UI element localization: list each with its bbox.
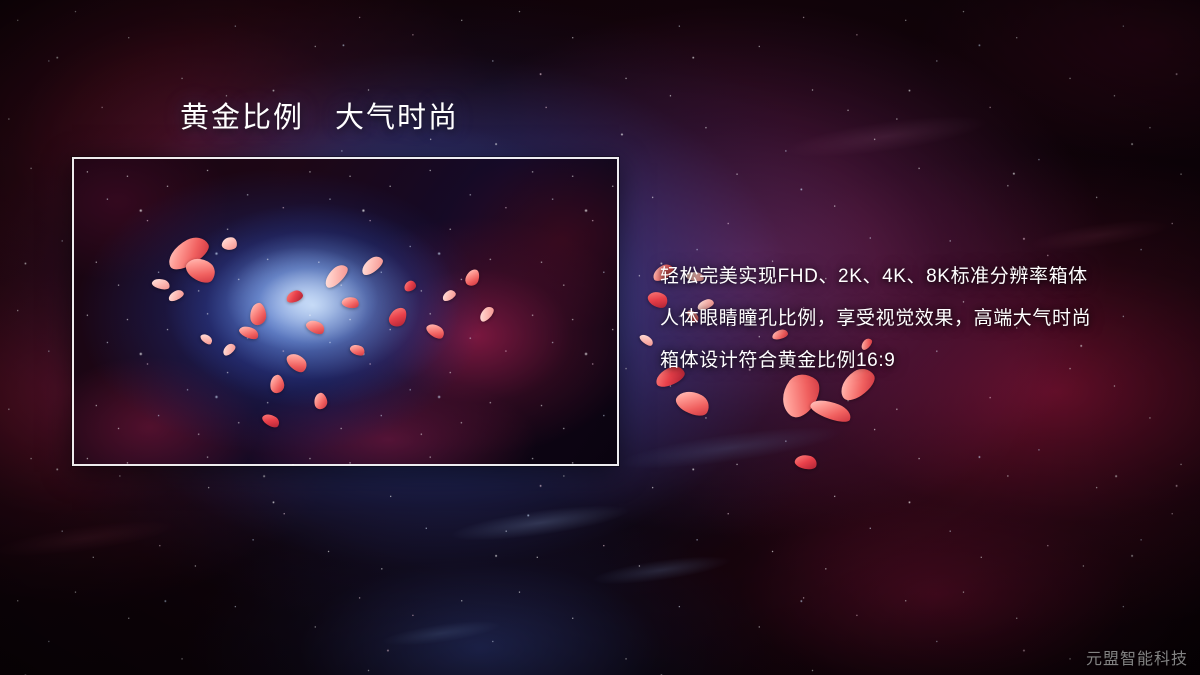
body-line-3: 箱体设计符合黄金比例16:9 [660, 340, 1180, 382]
body-line-1: 轻松完美实现FHD、2K、4K、8K标准分辨率箱体 [660, 256, 1180, 298]
body-line-2: 人体眼睛瞳孔比例，享受视觉效果，高端大气时尚 [660, 298, 1180, 340]
presentation-slide: 黄金比例 大气时尚 轻松完美实现FHD、2K、4K、8K标准分辨率箱体 人体眼睛… [0, 0, 1200, 675]
petal [793, 452, 818, 472]
page-title: 黄金比例 大气时尚 [180, 100, 459, 136]
body-copy: 轻松完美实现FHD、2K、4K、8K标准分辨率箱体 人体眼睛瞳孔比例，享受视觉效… [660, 256, 1180, 382]
photo-inner [74, 159, 617, 464]
petal [673, 385, 713, 420]
petal [638, 332, 655, 348]
photo-starfield [74, 159, 617, 464]
framed-photo [72, 157, 619, 466]
watermark: 元盟智能科技 [1086, 645, 1188, 669]
petal [808, 395, 853, 426]
